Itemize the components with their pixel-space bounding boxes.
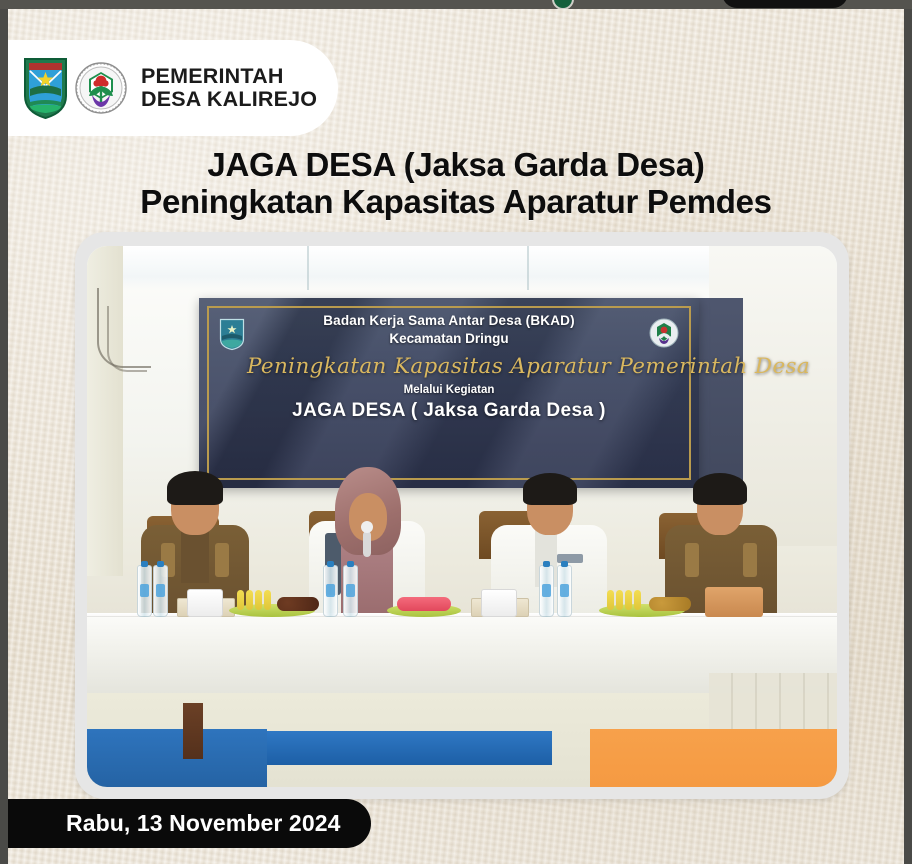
microphone <box>363 531 371 557</box>
banner-circular-emblem-icon <box>649 318 679 348</box>
banner-script-line: Peningkatan Kapasitas Aparatur Pemerinta… <box>247 354 651 378</box>
slide-stage: DESA KALIREJO <box>0 0 912 864</box>
headline-line-1: JAGA DESA (Jaksa Garda Desa) <box>8 147 904 184</box>
document-folder <box>705 587 763 617</box>
logo-pill-text: PEMERINTAH DESA KALIREJO <box>141 65 317 111</box>
person-hair <box>693 473 747 505</box>
tissue-box <box>481 589 517 617</box>
photo-frame: Badan Kerja Sama Antar Desa (BKAD) Kecam… <box>75 232 849 799</box>
logo-pill-line-2: DESA KALIREJO <box>141 88 317 111</box>
peek-logo-pill: DESA KALIREJO <box>722 0 848 8</box>
poster-card: PEMERINTAH DESA KALIREJO JAGA DESA (Jaks… <box>8 9 904 864</box>
person-hair <box>523 473 577 505</box>
person-hair <box>167 471 223 505</box>
banner-shield-icon <box>219 318 245 351</box>
page-title: JAGA DESA (Jaksa Garda Desa) Peningkatan… <box>8 147 904 221</box>
table-items-row <box>87 561 837 617</box>
date-badge: Rabu, 13 November 2024 <box>8 799 371 848</box>
banner-line-1: Badan Kerja Sama Antar Desa (BKAD) <box>251 312 647 330</box>
date-badge-label: Rabu, 13 November 2024 <box>66 810 341 837</box>
microphone-head-icon <box>361 521 373 533</box>
photo-ceiling-seam <box>307 246 309 290</box>
photo-banner-right-edge <box>699 298 743 488</box>
desa-kalirejo-circular-emblem <box>75 62 127 114</box>
photo-blue-mat <box>87 729 267 787</box>
banner-line-2: Kecamatan Dringu <box>251 330 647 348</box>
headline-line-2: Peningkatan Kapasitas Aparatur Pemdes <box>8 184 904 221</box>
tissue-box <box>187 589 223 617</box>
photo-floor-tiles <box>709 673 837 731</box>
photo-ceiling-seam <box>527 246 529 290</box>
event-photo: Badan Kerja Sama Antar Desa (BKAD) Kecam… <box>87 246 837 787</box>
banner-line-3: Melalui Kegiatan <box>251 384 647 396</box>
photo-wooden-post <box>183 703 203 759</box>
peek-emblem-icon <box>552 0 574 9</box>
adjacent-slide-peek[interactable]: DESA KALIREJO <box>0 0 912 9</box>
event-banner-text: Badan Kerja Sama Antar Desa (BKAD) Kecam… <box>251 312 647 422</box>
probolinggo-regency-shield-emblem <box>22 56 69 120</box>
organization-logo-pill: PEMERINTAH DESA KALIREJO <box>8 40 338 136</box>
event-banner: Badan Kerja Sama Antar Desa (BKAD) Kecam… <box>199 298 699 488</box>
banner-line-4: JAGA DESA ( Jaksa Garda Desa ) <box>251 400 647 422</box>
logo-pill-line-1: PEMERINTAH <box>141 65 317 88</box>
photo-hanging-wire <box>107 306 147 372</box>
photo-orange-mat <box>590 729 838 787</box>
